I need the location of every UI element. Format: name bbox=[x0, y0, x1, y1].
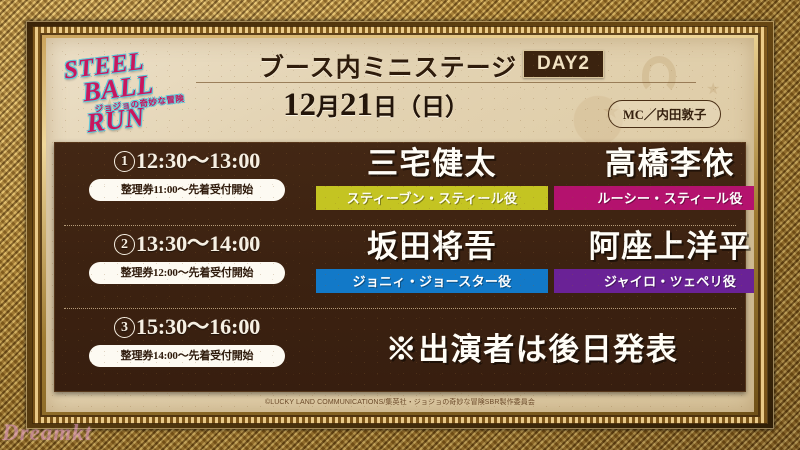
cast-role: スティーブン・スティール役 bbox=[316, 186, 548, 210]
cast-role: ルーシー・スティール役 bbox=[554, 186, 754, 210]
time-column: 213:30〜14:00 整理券12:00〜先着受付開始 bbox=[62, 232, 312, 284]
date-day-number: 21 bbox=[340, 87, 373, 123]
ticket-note: 整理券14:00〜先着受付開始 bbox=[89, 345, 285, 367]
session-time-text: 15:30〜16:00 bbox=[136, 314, 260, 339]
cast-entry: 坂田将吾 ジョニィ・ジョースター役 bbox=[316, 230, 548, 293]
cast-name: 高橋李依 bbox=[554, 147, 754, 182]
cast-entry: 阿座上洋平 ジャイロ・ツェペリ役 bbox=[554, 230, 754, 293]
cast-name: 三宅健太 bbox=[316, 147, 548, 182]
schedule-row: 315:30〜16:00 整理券14:00〜先着受付開始 ※出演者は後日発表 bbox=[54, 308, 746, 391]
mc-badge: MC／内田敦子 bbox=[608, 100, 721, 128]
parchment-canvas: ★ ★ ★ STEEL BALL RUN ジョジョの奇妙な冒険 ブース内ミニステ… bbox=[46, 38, 754, 412]
date-weekday: （日） bbox=[397, 95, 469, 121]
schedule-row: 112:30〜13:00 整理券11:00〜先着受付開始 三宅健太 スティーブン… bbox=[54, 142, 746, 225]
cast-entry: 三宅健太 スティーブン・スティール役 bbox=[316, 147, 548, 210]
title-divider bbox=[196, 82, 696, 83]
session-number: 1 bbox=[114, 151, 135, 172]
page-title: ブース内ミニステージ bbox=[218, 48, 558, 84]
poster-stage: ★ ★ ★ STEEL BALL RUN ジョジョの奇妙な冒険 ブース内ミニステ… bbox=[0, 0, 800, 450]
ticket-note: 整理券12:00〜先着受付開始 bbox=[89, 262, 285, 284]
cast-name: 坂田将吾 bbox=[316, 230, 548, 265]
time-column: 315:30〜16:00 整理券14:00〜先着受付開始 bbox=[62, 315, 312, 367]
cast-entry: 高橋李依 ルーシー・スティール役 bbox=[554, 147, 754, 210]
cast-announcement: ※出演者は後日発表 bbox=[312, 324, 752, 369]
copyright-notice: ©LUCKY LAND COMMUNICATIONS/集英社・ジョジョの奇妙な冒… bbox=[46, 397, 754, 407]
cast-role: ジョニィ・ジョースター役 bbox=[316, 269, 548, 293]
session-time: 315:30〜16:00 bbox=[62, 315, 312, 339]
day-badge: DAY2 bbox=[523, 50, 604, 78]
ticket-note: 整理券11:00〜先着受付開始 bbox=[89, 179, 285, 201]
session-time: 112:30〜13:00 bbox=[62, 149, 312, 173]
cast-name: 阿座上洋平 bbox=[554, 230, 754, 265]
date-month-number: 12 bbox=[283, 87, 316, 123]
session-time-text: 12:30〜13:00 bbox=[136, 148, 260, 173]
poster-header: STEEL BALL RUN ジョジョの奇妙な冒険 ブース内ミニステージ DAY… bbox=[46, 38, 754, 140]
event-date: 12月21日（日） bbox=[176, 87, 576, 124]
cast-role: ジャイロ・ツェペリ役 bbox=[554, 269, 754, 293]
date-month-unit: 月 bbox=[316, 95, 340, 121]
date-day-unit: 日 bbox=[373, 95, 397, 121]
session-time-text: 13:30〜14:00 bbox=[136, 231, 260, 256]
schedule-row: 213:30〜14:00 整理券12:00〜先着受付開始 坂田将吾 ジョニィ・ジ… bbox=[54, 225, 746, 308]
schedule-panel: 112:30〜13:00 整理券11:00〜先着受付開始 三宅健太 スティーブン… bbox=[54, 142, 746, 392]
session-number: 2 bbox=[114, 234, 135, 255]
session-number: 3 bbox=[114, 317, 135, 338]
session-time: 213:30〜14:00 bbox=[62, 232, 312, 256]
time-column: 112:30〜13:00 整理券11:00〜先着受付開始 bbox=[62, 149, 312, 201]
